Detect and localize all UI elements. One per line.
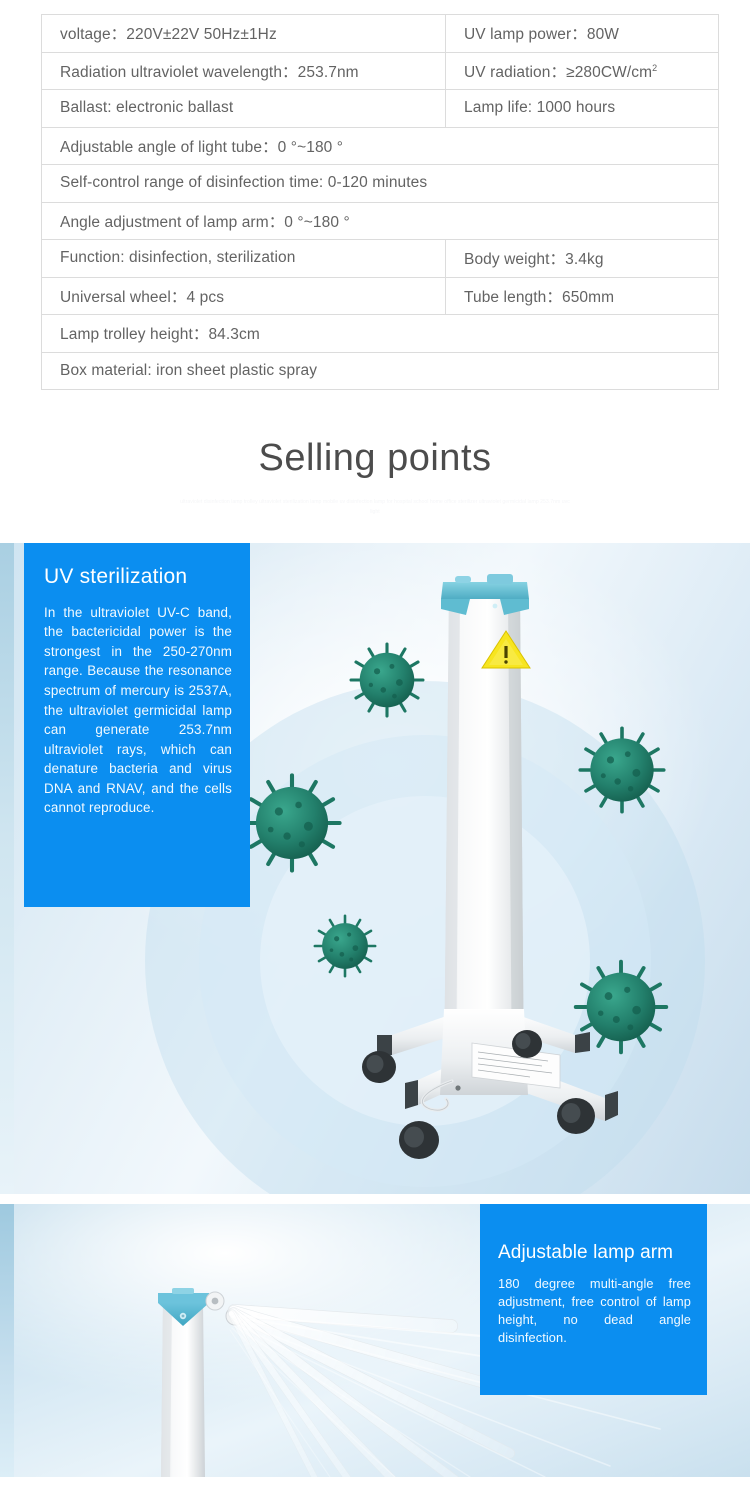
panel-uv-sterilization: UV sterilization In the ultraviolet UV-C… bbox=[0, 543, 750, 1194]
watermark-text: ultraviolet disinfection lamp trolley ul… bbox=[175, 498, 575, 522]
page-title: Selling points bbox=[0, 438, 750, 480]
spec-table-body: voltage：220V±22V 50Hz±1Hz UV lamp power：… bbox=[42, 15, 719, 390]
table-row: Box material: iron sheet plastic spray bbox=[42, 352, 719, 390]
spec-cell: Body weight：3.4kg bbox=[446, 240, 719, 278]
table-row: Radiation ultraviolet wavelength：253.7nm… bbox=[42, 52, 719, 90]
caster-wheel bbox=[362, 1051, 396, 1083]
spec-cell: Universal wheel：4 pcs bbox=[42, 277, 446, 315]
table-row: Adjustable angle of light tube：0 °~180 ° bbox=[42, 127, 719, 165]
specification-table: voltage：220V±22V 50Hz±1Hz UV lamp power：… bbox=[41, 14, 719, 390]
spec-superscript: 2 bbox=[652, 63, 657, 73]
lamp-column bbox=[161, 1302, 205, 1477]
virus-particle bbox=[315, 916, 375, 976]
table-row: voltage：220V±22V 50Hz±1Hz UV lamp power：… bbox=[42, 15, 719, 53]
spec-cell: voltage：220V±22V 50Hz±1Hz bbox=[42, 15, 446, 53]
virus-particle bbox=[580, 728, 664, 812]
feature-card-title: Adjustable lamp arm bbox=[498, 1242, 691, 1264]
feature-card-title: UV sterilization bbox=[44, 565, 232, 589]
caster-wheel bbox=[557, 1098, 595, 1194]
spec-cell: Radiation ultraviolet wavelength：253.7nm bbox=[42, 52, 446, 90]
panel-adjustable-lamp-arm: Adjustable lamp arm 180 degree multi-ang… bbox=[0, 1204, 750, 1477]
spec-cell: UV radiation：≥280CW/cm2 bbox=[446, 52, 719, 90]
spec-cell: Ballast: electronic ballast bbox=[42, 90, 446, 128]
spec-cell: Tube length：650mm bbox=[446, 277, 719, 315]
feature-card-body: 180 degree multi-angle free adjustment, … bbox=[498, 1275, 691, 1348]
spec-cell: Angle adjustment of lamp arm：0 °~180 ° bbox=[42, 202, 719, 240]
spec-table-section: voltage：220V±22V 50Hz±1Hz UV lamp power：… bbox=[0, 0, 750, 390]
spec-cell: Box material: iron sheet plastic spray bbox=[42, 352, 719, 390]
caster-wheel bbox=[399, 1121, 439, 1159]
table-row: Ballast: electronic ballast Lamp life: 1… bbox=[42, 90, 719, 128]
table-row: Angle adjustment of lamp arm：0 °~180 ° bbox=[42, 202, 719, 240]
spec-value: UV radiation：≥280CW/cm bbox=[464, 64, 652, 81]
spec-cell: Adjustable angle of light tube：0 °~180 ° bbox=[42, 127, 719, 165]
feature-card-uv-sterilization: UV sterilization In the ultraviolet UV-C… bbox=[24, 543, 250, 907]
caster-wheel bbox=[512, 1030, 542, 1058]
spec-cell: Self-control range of disinfection time:… bbox=[42, 165, 719, 203]
table-row: Lamp trolley height：84.3cm bbox=[42, 315, 719, 353]
selling-points-header: Selling points ultraviolet disinfection … bbox=[0, 438, 750, 522]
feature-card-body: In the ultraviolet UV-C band, the bacter… bbox=[44, 603, 232, 818]
table-row: Self-control range of disinfection time:… bbox=[42, 165, 719, 203]
spec-cell: Lamp trolley height：84.3cm bbox=[42, 315, 719, 353]
table-row: Universal wheel：4 pcs Tube length：650mm bbox=[42, 277, 719, 315]
feature-card-adjustable-lamp-arm: Adjustable lamp arm 180 degree multi-ang… bbox=[480, 1204, 707, 1395]
table-row: Function: disinfection, sterilization Bo… bbox=[42, 240, 719, 278]
spec-cell: Lamp life: 1000 hours bbox=[446, 90, 719, 128]
virus-particle bbox=[351, 644, 423, 716]
virus-particle bbox=[244, 775, 339, 870]
spec-cell: Function: disinfection, sterilization bbox=[42, 240, 446, 278]
spec-cell: UV lamp power：80W bbox=[446, 15, 719, 53]
